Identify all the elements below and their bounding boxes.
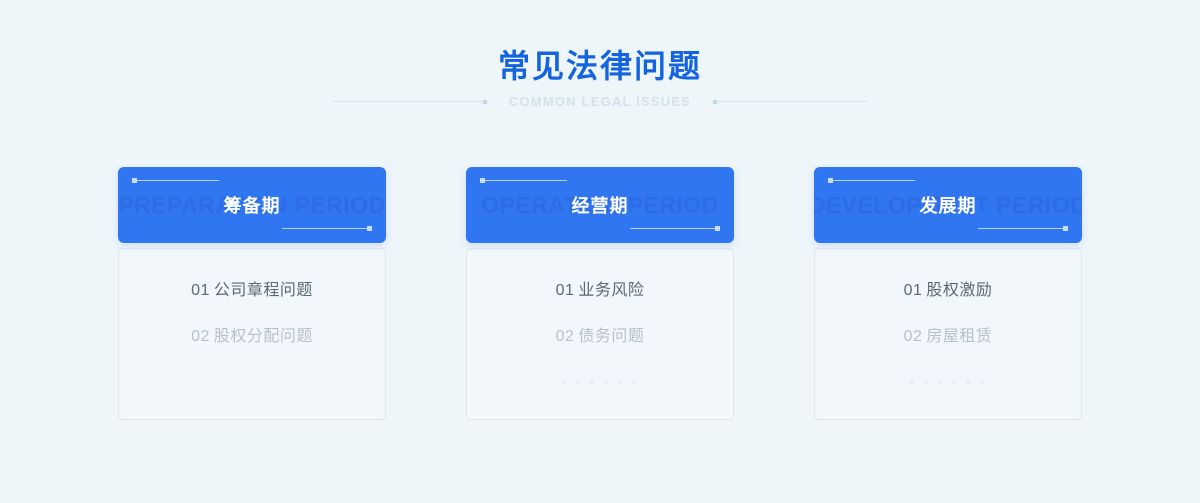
list-item-number: 01 — [191, 282, 210, 299]
page-title: 常见法律问题 — [0, 44, 1200, 88]
list-item-label: 股权激励 — [926, 282, 992, 299]
list-item[interactable]: 01公司章程问题 — [119, 279, 385, 303]
list-item-label: 债务问题 — [578, 328, 644, 345]
card-header: PREPARATION PERIOD 筹备期 — [118, 167, 386, 243]
card-header: DEVELOPMENT PERIOD 发展期 — [814, 167, 1082, 243]
list-item-placeholder: • • • • • • — [815, 371, 1081, 395]
list-item[interactable]: 02债务问题 — [467, 325, 733, 349]
list-item[interactable]: 01股权激励 — [815, 279, 1081, 303]
stage-card-development[interactable]: DEVELOPMENT PERIOD 发展期 01股权激励 02房屋租赁 • •… — [814, 167, 1082, 420]
list-item-number: 01 — [556, 282, 575, 299]
card-body: 01公司章程问题 02股权分配问题 — [118, 248, 386, 420]
list-item[interactable]: 01业务风险 — [467, 279, 733, 303]
card-title: 发展期 — [814, 167, 1082, 243]
list-item[interactable]: 02股权分配问题 — [119, 325, 385, 349]
stage-card-operation[interactable]: OPERATION PERIOD 经营期 01业务风险 02债务问题 • • •… — [466, 167, 734, 420]
list-item-number: 01 — [904, 282, 923, 299]
stage-card-preparation[interactable]: PREPARATION PERIOD 筹备期 01公司章程问题 02股权分配问题 — [118, 167, 386, 420]
card-body: 01业务风险 02债务问题 • • • • • • — [466, 248, 734, 420]
card-title: 筹备期 — [118, 167, 386, 243]
card-list: PREPARATION PERIOD 筹备期 01公司章程问题 02股权分配问题 — [118, 167, 1082, 420]
section-heading: 常见法律问题 COMMON LEGAL ISSUES — [0, 44, 1200, 109]
list-item-label: 股权分配问题 — [214, 328, 313, 345]
subtitle-row: COMMON LEGAL ISSUES — [0, 94, 1200, 109]
list-item[interactable]: 02房屋租赁 — [815, 325, 1081, 349]
list-item-label: 公司章程问题 — [214, 282, 313, 299]
list-item-label: 房屋租赁 — [926, 328, 992, 345]
decorative-line-right — [713, 98, 867, 106]
page-subtitle: COMMON LEGAL ISSUES — [487, 94, 713, 109]
line-end-dot-icon — [483, 100, 487, 104]
list-item-number: 02 — [904, 328, 923, 345]
line-end-dot-icon — [713, 100, 717, 104]
page-root: 常见法律问题 COMMON LEGAL ISSUES PREPARATION P… — [0, 0, 1200, 503]
card-header: OPERATION PERIOD 经营期 — [466, 167, 734, 243]
list-item-placeholder: • • • • • • — [467, 371, 733, 395]
list-item-number: 02 — [556, 328, 575, 345]
card-body: 01股权激励 02房屋租赁 • • • • • • — [814, 248, 1082, 420]
list-item-number: 02 — [191, 328, 210, 345]
card-title: 经营期 — [466, 167, 734, 243]
list-item-label: 业务风险 — [578, 282, 644, 299]
decorative-line-left — [333, 98, 487, 106]
